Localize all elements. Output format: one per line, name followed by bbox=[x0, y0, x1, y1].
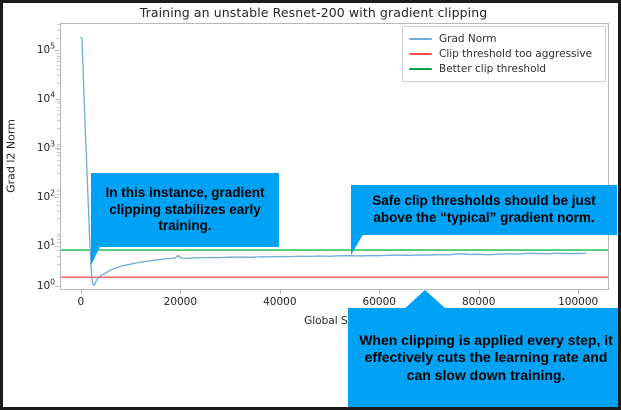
x-tick-label: 60000 bbox=[363, 296, 396, 308]
legend-label: Better clip threshold bbox=[439, 63, 546, 75]
y-tick-label: 103 bbox=[37, 142, 55, 154]
x-tick-label: 20000 bbox=[164, 296, 197, 308]
y-tick-label: 102 bbox=[37, 191, 55, 203]
x-tick-label: 0 bbox=[78, 296, 85, 308]
callout-3-tail-icon bbox=[403, 290, 447, 310]
y-tick-label: 104 bbox=[37, 93, 55, 105]
y-tick-label: 105 bbox=[37, 44, 55, 56]
legend-item-grad-norm: Grad Norm bbox=[409, 31, 599, 46]
y-tick-label: 100 bbox=[37, 280, 55, 292]
callout-clipping-every-step: When clipping is applied every step, it … bbox=[348, 308, 621, 408]
callout-text: In this instance, gradient clipping stab… bbox=[95, 185, 275, 236]
legend-swatch-better-clip bbox=[409, 68, 432, 70]
x-tick-label: 80000 bbox=[462, 296, 495, 308]
chart-title: Training an unstable Resnet-200 with gra… bbox=[3, 5, 621, 20]
callout-text: Safe clip thresholds should be just abov… bbox=[357, 193, 611, 227]
screenshot-root: Training an unstable Resnet-200 with gra… bbox=[0, 0, 621, 410]
legend-item-better-clip: Better clip threshold bbox=[409, 61, 599, 76]
legend-label: Grad Norm bbox=[439, 33, 497, 45]
x-tick-mark bbox=[280, 290, 281, 294]
x-tick-mark bbox=[578, 290, 579, 294]
legend-swatch-grad-norm bbox=[409, 38, 432, 40]
x-tick-label: 40000 bbox=[263, 296, 296, 308]
y-axis-ticks: 100 101 102 103 104 105 bbox=[3, 3, 55, 410]
callout-text: When clipping is applied every step, it … bbox=[356, 332, 616, 385]
x-tick-mark bbox=[379, 290, 380, 294]
x-tick-mark bbox=[479, 290, 480, 294]
chart-legend: Grad Norm Clip threshold too aggressive … bbox=[402, 26, 606, 82]
legend-item-clip-too-aggressive: Clip threshold too aggressive bbox=[409, 46, 599, 61]
x-tick-mark bbox=[81, 290, 82, 294]
callout-early-training: In this instance, gradient clipping stab… bbox=[91, 173, 279, 247]
y-tick-label: 101 bbox=[37, 240, 55, 252]
x-tick-label: 100000 bbox=[558, 296, 598, 308]
chart-figure: Training an unstable Resnet-200 with gra… bbox=[3, 3, 618, 407]
legend-swatch-clip-too-aggressive bbox=[409, 53, 432, 55]
callout-safe-thresholds: Safe clip thresholds should be just abov… bbox=[351, 185, 617, 235]
legend-label: Clip threshold too aggressive bbox=[439, 48, 592, 60]
x-tick-mark bbox=[180, 290, 181, 294]
